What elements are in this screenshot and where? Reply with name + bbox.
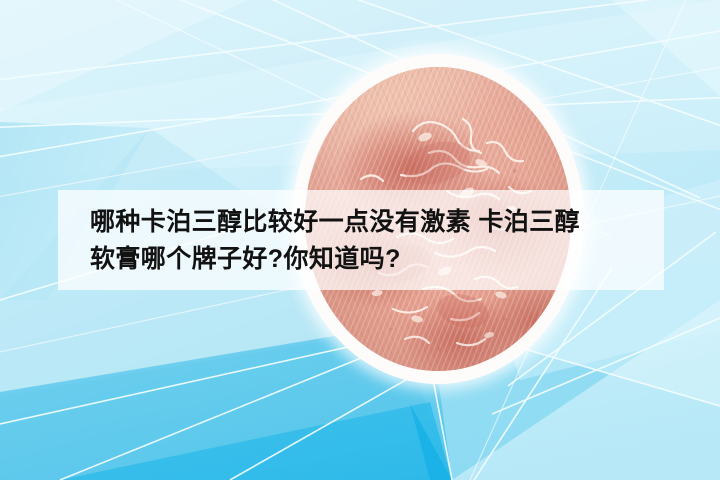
cover-image: 哪种卡泊三醇比较好一点没有激素 卡泊三醇 软膏哪个牌子好?你知道吗? (0, 0, 720, 480)
caption-band: 哪种卡泊三醇比较好一点没有激素 卡泊三醇 软膏哪个牌子好?你知道吗? (58, 190, 664, 290)
caption-title: 哪种卡泊三醇比较好一点没有激素 卡泊三醇 软膏哪个牌子好?你知道吗? (90, 204, 632, 278)
